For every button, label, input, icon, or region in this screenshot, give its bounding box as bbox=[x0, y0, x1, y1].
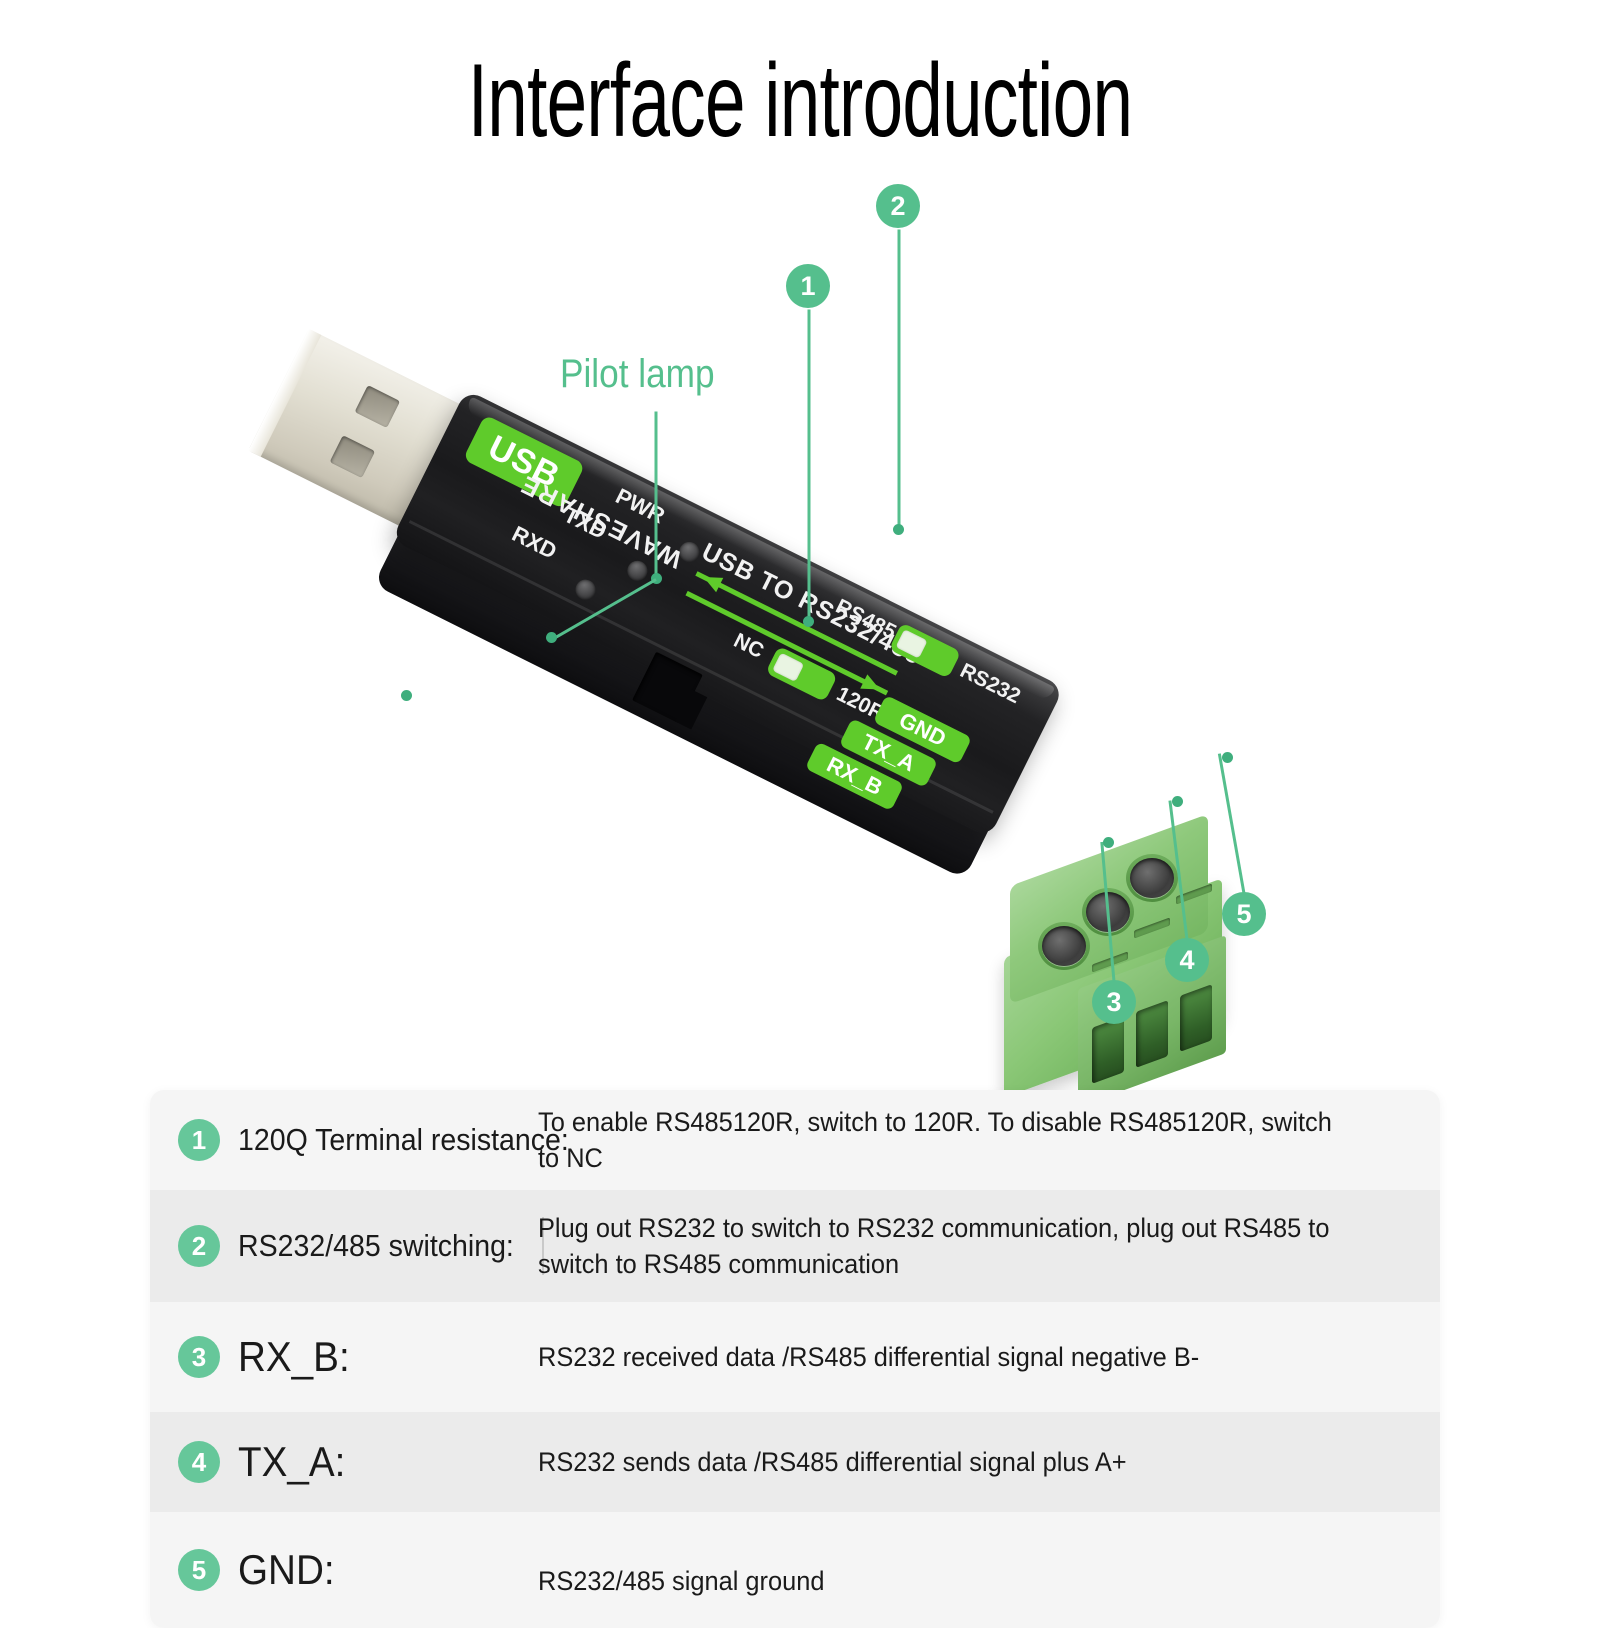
callout-1-leader bbox=[808, 310, 811, 624]
callout-4-dot bbox=[1172, 796, 1183, 807]
callout-2-dot bbox=[893, 524, 904, 535]
row-label: TX_A: bbox=[238, 1438, 514, 1486]
tx-a-terminal[interactable] bbox=[1136, 1000, 1168, 1068]
callout-1-bubble[interactable]: 1 bbox=[786, 264, 830, 308]
usb-to-rs232-485-adapter: USB PWR TXD RXD USB TO RS232/485 WAVESHA… bbox=[265, 255, 1275, 815]
usb-connector-cutout bbox=[355, 385, 401, 428]
callout-3-dot bbox=[1103, 837, 1114, 848]
rx-b-terminal[interactable] bbox=[1092, 1016, 1124, 1084]
pilot-lamp-leader bbox=[655, 412, 658, 572]
callout-1-dot bbox=[803, 616, 814, 627]
terminal-screw-1[interactable] bbox=[1130, 858, 1174, 898]
row-number-badge: 3 bbox=[178, 1336, 220, 1378]
row-description: RS232/485 signal ground bbox=[538, 1541, 1386, 1599]
row-description: To enable RS485120R, switch to 120R. To … bbox=[538, 1104, 1386, 1177]
row-label: RS232/485 switching: bbox=[238, 1228, 514, 1264]
product-photo: USB PWR TXD RXD USB TO RS232/485 WAVESHA… bbox=[0, 160, 1600, 1080]
row-description: RS232 received data /RS485 differential … bbox=[538, 1339, 1386, 1375]
callout-5-dot bbox=[1222, 752, 1233, 763]
interface-spec-table: 1 120Q Terminal resistance: To enable RS… bbox=[150, 1090, 1440, 1628]
table-row: 4 TX_A: RS232 sends data /RS485 differen… bbox=[150, 1412, 1440, 1512]
table-row: 3 RX_B: RS232 received data /RS485 diffe… bbox=[150, 1302, 1440, 1412]
callout-3-bubble[interactable]: 3 bbox=[1092, 980, 1136, 1024]
table-row: 2 RS232/485 switching: Plug out RS232 to… bbox=[150, 1190, 1440, 1302]
terminal-screw-3[interactable] bbox=[1042, 926, 1086, 966]
callout-2-bubble[interactable]: 2 bbox=[876, 184, 920, 228]
jumper-cap[interactable] bbox=[896, 629, 928, 658]
gnd-terminal[interactable] bbox=[1180, 984, 1212, 1052]
row-number-badge: 1 bbox=[178, 1119, 220, 1161]
row-label: 120Q Terminal resistance: bbox=[238, 1122, 514, 1158]
led-txd-dot bbox=[546, 632, 557, 643]
callout-4-bubble[interactable]: 4 bbox=[1165, 938, 1209, 982]
row-label: GND: bbox=[238, 1546, 514, 1594]
row-label: RX_B: bbox=[238, 1333, 514, 1381]
page-title: Interface introduction bbox=[240, 42, 1360, 161]
led-rxd-dot bbox=[401, 690, 412, 701]
callout-2-leader bbox=[898, 230, 901, 532]
row-description: RS232 sends data /RS485 differential sig… bbox=[538, 1444, 1386, 1480]
callout-5-bubble[interactable]: 5 bbox=[1222, 892, 1266, 936]
table-row: 5 GND: RS232/485 signal ground bbox=[150, 1512, 1440, 1628]
row-number-badge: 2 bbox=[178, 1225, 220, 1267]
jumper-cap[interactable] bbox=[772, 653, 804, 682]
pilot-lamp-label: Pilot lamp bbox=[560, 352, 715, 397]
row-number-badge: 5 bbox=[178, 1549, 220, 1591]
row-number-badge: 4 bbox=[178, 1441, 220, 1483]
row-description: Plug out RS232 to switch to RS232 commun… bbox=[538, 1210, 1386, 1283]
table-row: 1 120Q Terminal resistance: To enable RS… bbox=[150, 1090, 1440, 1190]
usb-connector-cutout bbox=[330, 435, 376, 478]
